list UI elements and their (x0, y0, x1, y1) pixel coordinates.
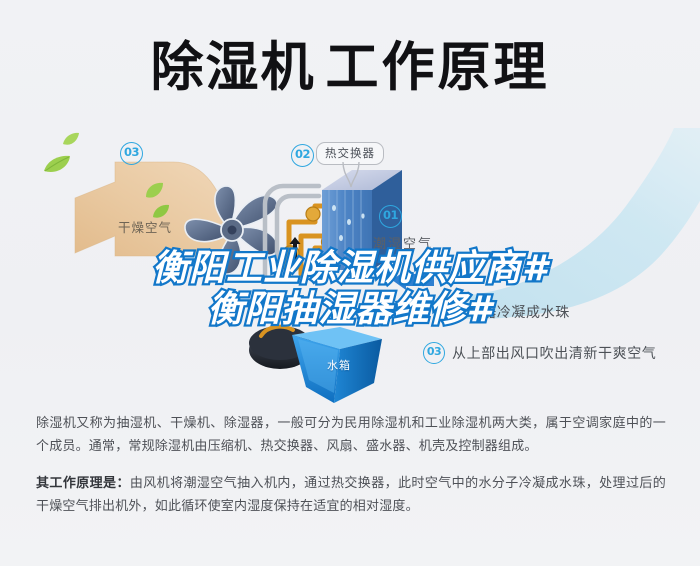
step-line-03-text: 从上部出风口吹出清新干爽空气 (452, 343, 656, 363)
badge-03-outlet: 03 (423, 342, 445, 364)
leaf-icon (152, 204, 170, 220)
leaf-icon (144, 182, 164, 200)
paragraph-principle-lead: 其工作原理是： (36, 476, 130, 491)
water-tank-label: 水箱 (327, 357, 351, 373)
page-title-part1: 除湿机 (151, 37, 316, 98)
leaf-icon (62, 132, 80, 147)
badge-02-heat-exchanger: 02 (291, 144, 314, 167)
air-inlet-arrow (392, 270, 434, 290)
step-line-03: 03 从上部出风口吹出清新干爽空气 (423, 342, 656, 364)
infographic-page: 除湿机工作原理 (0, 0, 700, 566)
dehumidifier-diagram: 干燥空气 (0, 120, 700, 405)
paragraph-principle-rest: 由风机将潮湿空气抽入机内，通过热交换器，此时空气中的水分子冷凝成水珠，处理过后的… (36, 476, 666, 514)
paragraph-definition: 除湿机又称为抽湿机、干燥机、除湿器，一般可分为民用除湿机和工业除湿机两大类，属于… (36, 412, 666, 458)
title-area: 除湿机工作原理 (0, 0, 700, 120)
humid-air-label: 潮湿空气 (373, 233, 433, 252)
description-text: 除湿机又称为抽湿机、干燥机、除湿器，一般可分为民用除湿机和工业除湿机两大类，属于… (36, 412, 666, 518)
callout-pointer-icon (340, 162, 362, 188)
badge-01-humid-air: 01 (379, 205, 402, 228)
leaf-icon (42, 154, 72, 176)
page-title-part2: 工作原理 (326, 37, 550, 98)
page-title: 除湿机工作原理 (0, 38, 700, 98)
badge-03-dry-air: 03 (120, 142, 143, 165)
step-line-02-text: 蒸发器冷凝成水珠 (453, 302, 570, 322)
paragraph-principle: 其工作原理是：由风机将潮湿空气抽入机内，通过热交换器，此时空气中的水分子冷凝成水… (36, 472, 666, 518)
